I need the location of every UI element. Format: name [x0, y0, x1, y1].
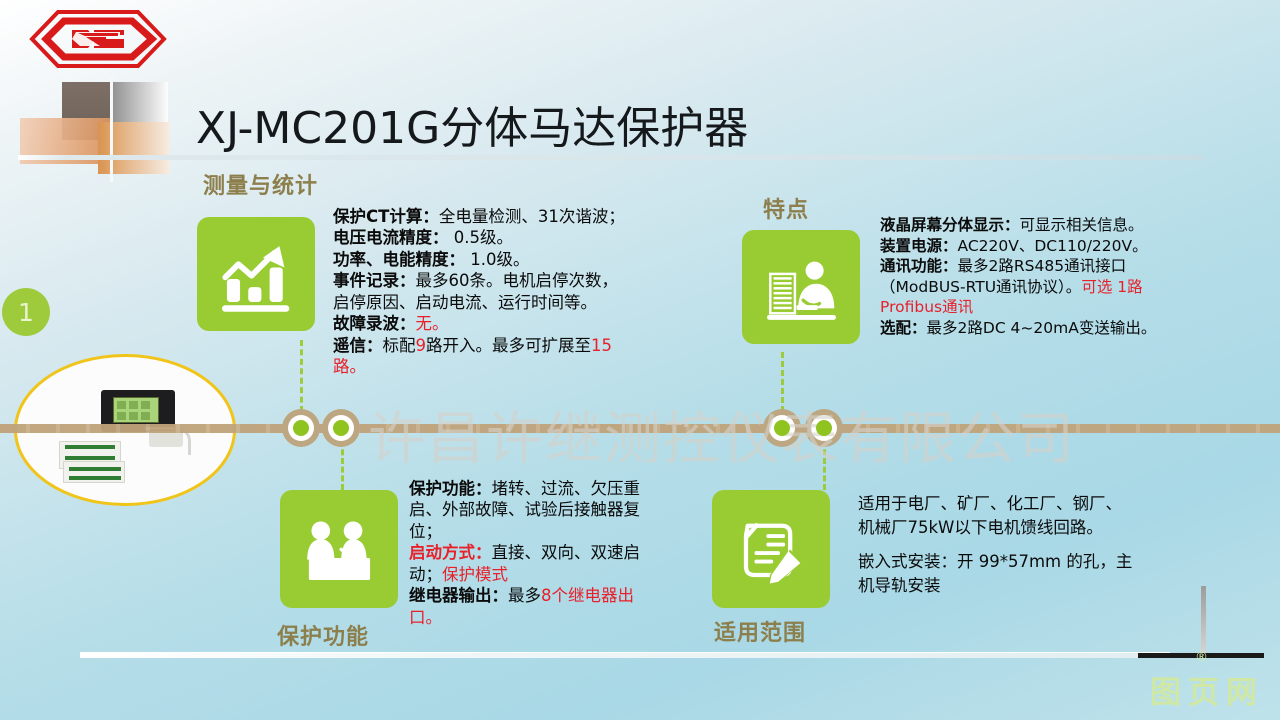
- scope-line-2: 机械厂75kW以下电机馈线回路。: [858, 516, 1132, 540]
- measure-line-7: 遥信：标配9路开入。最多可扩展至15: [333, 335, 625, 356]
- bottom-rule: [80, 652, 1170, 658]
- xj-company-logo: [28, 8, 168, 70]
- text-block-measure: 保护CT计算：全电量检测、31次谐波； 电压电流精度： 0.5级。 功率、电能精…: [333, 206, 625, 378]
- text-block-protect: 保护功能：堵转、过流、欠压重 启、外部故障、试验后接触器复 位； 启动方式：直接…: [409, 478, 640, 628]
- timeline-node-3: [763, 409, 801, 447]
- company-watermark: 许昌许继测控仪表有限公司: [368, 393, 1128, 475]
- timeline-node-1: [282, 409, 320, 447]
- scope-line-4: 嵌入式安装：开 99*57mm 的孔，主: [858, 550, 1132, 574]
- timeline-node-2: [322, 409, 360, 447]
- text-block-feature: 液晶屏幕分体显示：可显示相关信息。 装置电源：AC220V、DC110/220V…: [880, 215, 1156, 339]
- document-pencil-icon: [729, 507, 814, 592]
- protect-line-1: 保护功能：堵转、过流、欠压重: [409, 478, 640, 499]
- measure-line-3: 功率、电能精度： 1.0级。: [333, 249, 625, 270]
- site-watermark: 图页网: [1150, 667, 1264, 712]
- scope-line-1: 适用于电厂、矿厂、化工厂、钢厂、: [858, 492, 1132, 516]
- protect-line-2: 启、外部故障、试验后接触器复: [409, 499, 640, 520]
- scope-line-5: 机导轨安装: [858, 574, 1132, 598]
- measure-line-8: 路。: [333, 356, 625, 377]
- tile-scope: [712, 490, 830, 608]
- page-title: XJ-MC201G分体马达保护器: [196, 92, 748, 156]
- protect-line-7: 口。: [409, 607, 640, 628]
- feature-line-6: 选配：最多2路DC 4~20mA变送输出。: [880, 318, 1156, 339]
- text-block-scope: 适用于电厂、矿厂、化工厂、钢厂、 机械厂75kW以下电机馈线回路。 嵌入式安装：…: [858, 492, 1132, 598]
- person-at-desk-icon: [759, 246, 844, 328]
- measure-line-5: 启停原因、启动电流、运行时间等。: [333, 292, 625, 313]
- feature-line-1: 液晶屏幕分体显示：可显示相关信息。: [880, 215, 1156, 236]
- heading-scope: 适用范围: [714, 615, 806, 647]
- timeline-axis: [0, 424, 1280, 433]
- feature-line-4: （ModBUS-RTU通讯协议）。可选 1路: [880, 277, 1156, 298]
- watermark-tick: [1201, 586, 1206, 658]
- connector-feature: [781, 352, 784, 412]
- measure-line-6: 故障录波：无。: [333, 313, 625, 334]
- scope-line-3: [858, 540, 1132, 550]
- protect-line-6: 继电器输出：最多8个继电器出: [409, 585, 640, 606]
- registered-mark: ®: [1195, 650, 1208, 665]
- timeline-node-4: [805, 409, 843, 447]
- slide-root: XJ-MC201G分体马达保护器 1 许昌许继测控仪: [0, 0, 1280, 720]
- connector-measure: [300, 340, 303, 412]
- feature-line-5: Profibus通讯: [880, 297, 1156, 318]
- measure-line-2: 电压电流精度： 0.5级。: [333, 227, 625, 248]
- tile-feature: [742, 230, 860, 344]
- measure-line-4: 事件记录：最多60条。电机启停次数，: [333, 270, 625, 291]
- slide-number-badge: 1: [2, 288, 50, 336]
- tile-protect: [280, 490, 398, 608]
- heading-measure: 测量与统计: [203, 168, 318, 200]
- bar-chart-growth-icon: [214, 233, 299, 315]
- two-people-table-icon: [297, 507, 382, 592]
- measure-line-1: 保护CT计算：全电量检测、31次谐波；: [333, 206, 625, 227]
- feature-line-2: 装置电源：AC220V、DC110/220V。: [880, 236, 1156, 257]
- protect-line-4: 启动方式：直接、双向、双速启: [409, 542, 640, 563]
- heading-feature: 特点: [763, 192, 809, 224]
- protect-line-3: 位；: [409, 521, 640, 542]
- feature-line-3: 通讯功能：最多2路RS485通讯接口: [880, 256, 1156, 277]
- header-decor-block-orange: [98, 122, 170, 174]
- protect-line-5: 动；保护模式: [409, 564, 640, 585]
- header-decor-vline: [110, 78, 113, 182]
- heading-protect: 保护功能: [277, 619, 369, 651]
- tile-measure: [197, 217, 315, 331]
